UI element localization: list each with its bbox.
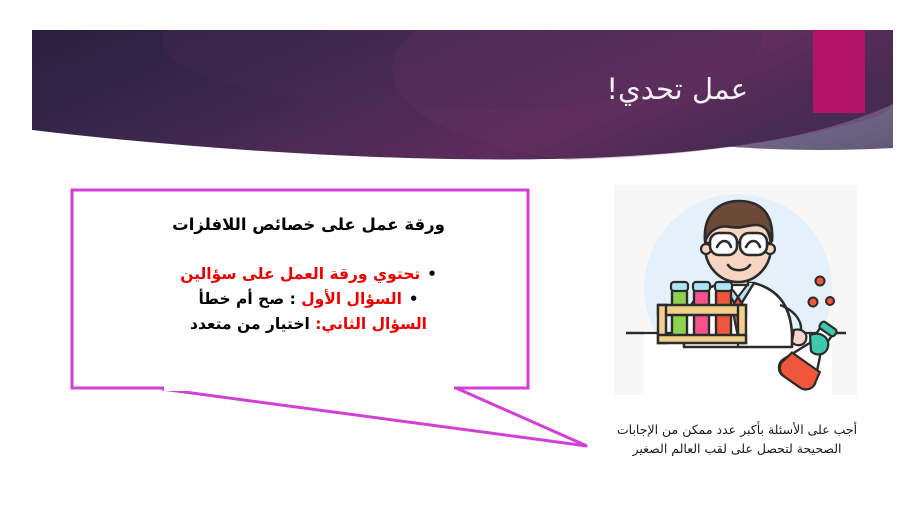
header-banner: [32, 30, 893, 165]
page-title: عمل تحدي!: [606, 72, 748, 106]
worksheet-bullet-item: السؤال الأول : صح أم خطأ: [98, 287, 519, 312]
picture-caption: أجب على الأسئلة بأكبر عدد ممكن من الإجاب…: [604, 420, 870, 459]
scientist-illustration: [614, 185, 857, 395]
slide-canvas: عمل تحدي! ورقة عمل على خصائص اللافلزات ت…: [0, 0, 913, 509]
worksheet-title: ورقة عمل على خصائص اللافلزات: [98, 214, 519, 236]
worksheet-bullet-item: تحتوي ورقة العمل على سؤالين: [98, 262, 519, 287]
worksheet-bullet-list: تحتوي ورقة العمل على سؤالينالسؤال الأول …: [98, 262, 519, 337]
worksheet-bullet-item: السؤال الثاني: اختيار من متعدد: [98, 312, 519, 337]
worksheet-text-block: ورقة عمل على خصائص اللافلزات تحتوي ورقة …: [86, 198, 531, 388]
bullet-text-segment: : صح أم خطأ: [198, 290, 301, 308]
bullet-text-segment: اختيار من متعدد: [190, 315, 315, 333]
bullet-text-segment: تحتوي ورقة العمل على سؤالين: [180, 265, 420, 283]
bullet-text-segment: السؤال الثاني:: [315, 315, 427, 333]
worksheet-callout: ورقة عمل على خصائص اللافلزات تحتوي ورقة …: [66, 184, 591, 452]
accent-tab: [813, 30, 865, 113]
bullet-text-segment: السؤال الأول: [301, 290, 402, 308]
